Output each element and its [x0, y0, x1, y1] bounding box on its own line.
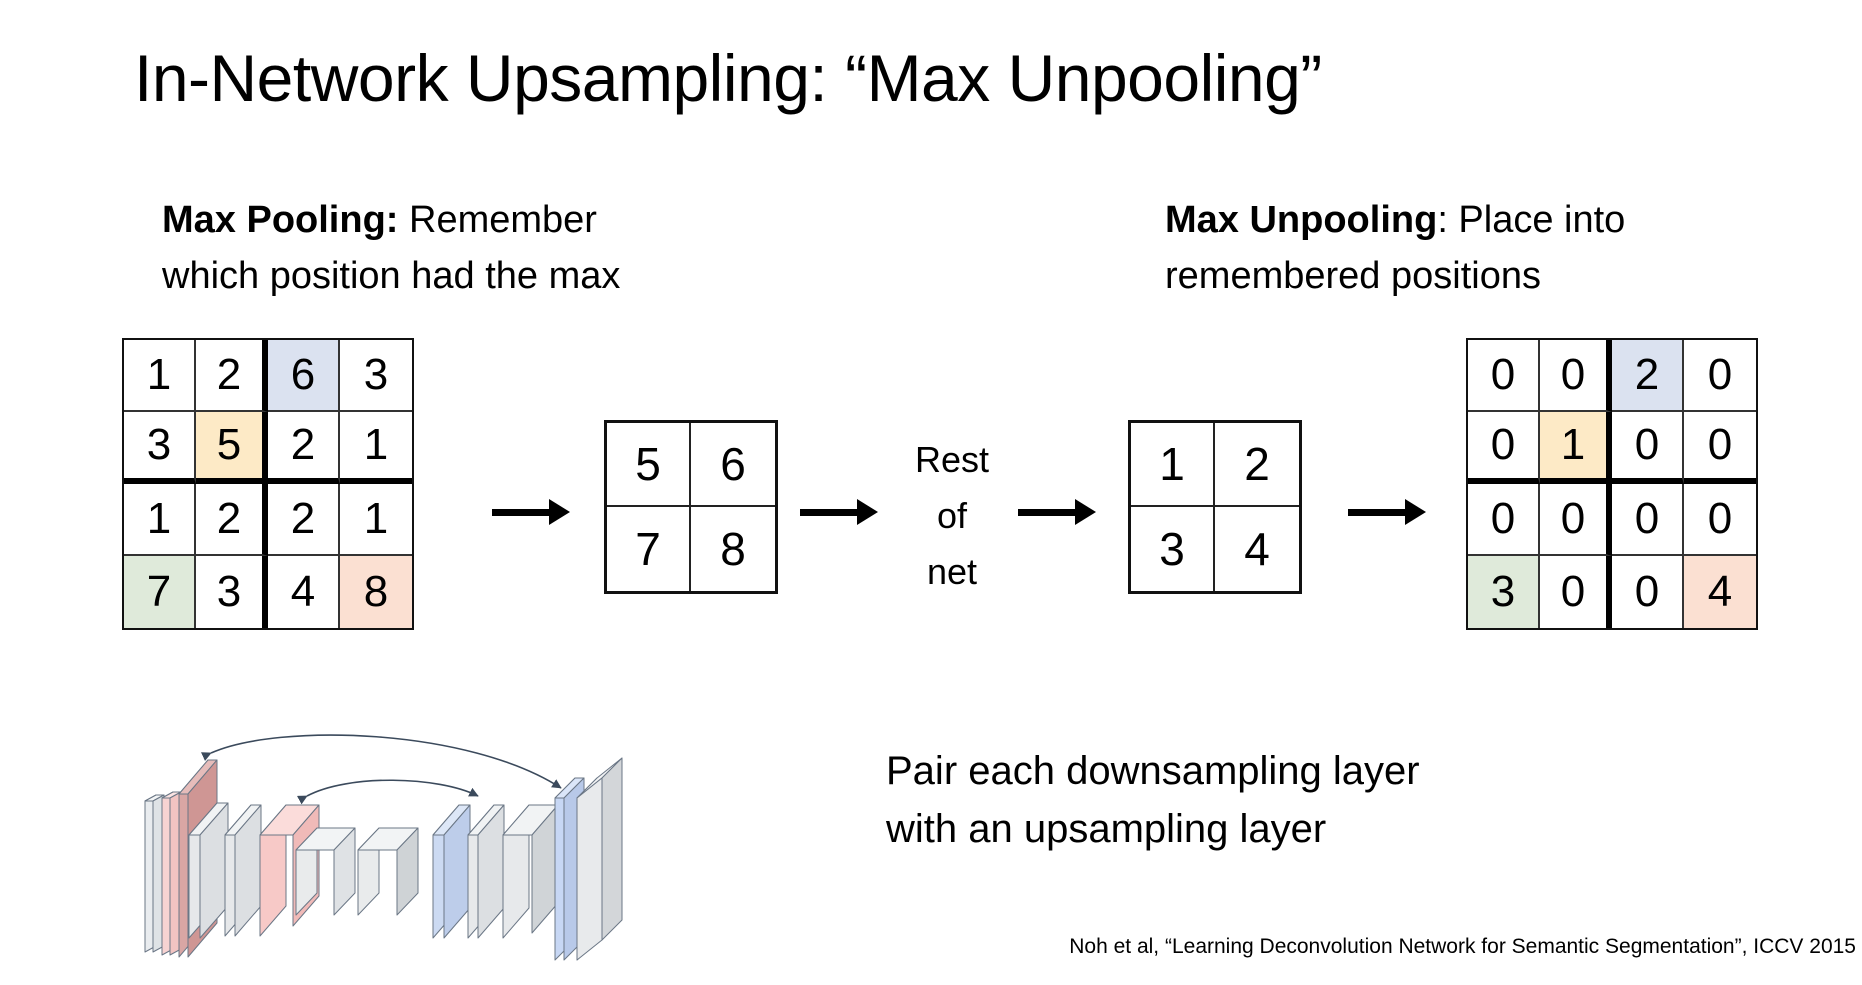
rest-of-net-line-2: of — [898, 488, 1006, 544]
rest-of-net-line-3: net — [898, 544, 1006, 600]
pooling-input-grid-cell-r1-c0: 3 — [124, 412, 196, 484]
upsample-input-grid-cell-r1-c1: 4 — [1215, 507, 1299, 591]
pooling-input-grid-cell-r2-c0: 1 — [124, 484, 196, 556]
net-block-bottleneck-1 — [296, 828, 355, 915]
upsample-input-grid-cell-r0-c1: 2 — [1215, 423, 1299, 507]
pooling-input-grid-cell-r3-c0: 7 — [124, 556, 196, 628]
unpooling-output-grid-cell-r2-c0: 0 — [1468, 484, 1540, 556]
net-block-input-1 — [145, 795, 164, 952]
arrow-head — [549, 499, 570, 525]
net-block-enc-3 — [225, 805, 261, 936]
unpooling-output-grid-cell-r3-c1: 0 — [1540, 556, 1612, 628]
unpooling-output-grid-cell-r0-c3: 0 — [1684, 340, 1756, 412]
arrow-head — [857, 499, 878, 525]
arrow-head — [1075, 499, 1096, 525]
unpooling-output-grid-cell-r3-c2: 0 — [1612, 556, 1684, 628]
unpooling-output-grid-cell-r0-c0: 0 — [1468, 340, 1540, 412]
unpooling-output-grid-cell-r3-c0: 3 — [1468, 556, 1540, 628]
pooling-input-grid-cell-r0-c1: 2 — [196, 340, 268, 412]
rest-of-net-line-1: Rest — [898, 432, 1006, 488]
pooling-input-grid-cell-r1-c2: 2 — [268, 412, 340, 484]
arrow-head — [1405, 499, 1426, 525]
citation-text: Noh et al, “Learning Deconvolution Netwo… — [1069, 934, 1856, 959]
rest-of-net-label: Rest of net — [898, 432, 1006, 599]
pooling-input-grid-cell-r3-c1: 3 — [196, 556, 268, 628]
pooling-input-grid-cell-r2-c2: 2 — [268, 484, 340, 556]
pooling-input-grid-cell-r2-c1: 2 — [196, 484, 268, 556]
pooled-grid-cell-r0-c1: 6 — [691, 423, 775, 507]
pooling-input-grid-cell-r1-c1: 5 — [196, 412, 268, 484]
net-block-dec-2 — [468, 805, 504, 938]
upsample-input-grid: 1234 — [1128, 420, 1302, 594]
net-block-dec-3 — [503, 805, 558, 938]
net-block-input-2 — [162, 792, 181, 955]
arrow-unpool-right-icon — [1348, 497, 1426, 527]
net-block-dec-1 — [433, 805, 470, 938]
skip-arrow-inner — [307, 780, 478, 796]
unpooling-output-grid-cell-r0-c1: 0 — [1540, 340, 1612, 412]
unpooling-output-grid-cell-r1-c1: 1 — [1540, 412, 1612, 484]
pooled-grid: 5678 — [604, 420, 778, 594]
pair-layers-caption: Pair each downsampling layer with an ups… — [886, 742, 1420, 858]
encoder-decoder-network-diagram — [118, 718, 638, 980]
pooling-input-grid-cell-r0-c0: 1 — [124, 340, 196, 412]
unpooling-output-grid-cell-r0-c2: 2 — [1612, 340, 1684, 412]
unpooling-output-grid: 0020010000003004 — [1466, 338, 1758, 630]
pooling-input-grid-cell-r0-c2: 6 — [268, 340, 340, 412]
arrow-to-rest-of-net-icon — [800, 497, 878, 527]
arrow-shaft — [492, 509, 550, 516]
unpooling-output-grid-cell-r2-c2: 0 — [1612, 484, 1684, 556]
arrow-shaft — [1348, 509, 1406, 516]
unpooling-output-grid-cell-r1-c0: 0 — [1468, 412, 1540, 484]
upsample-input-grid-cell-r1-c0: 3 — [1131, 507, 1215, 591]
pooling-input-grid-cell-r3-c2: 4 — [268, 556, 340, 628]
pooled-grid-cell-r1-c1: 8 — [691, 507, 775, 591]
pooling-input-grid-cell-r2-c3: 1 — [340, 484, 412, 556]
pooling-input-grid-cell-r0-c3: 3 — [340, 340, 412, 412]
net-block-bottleneck-2 — [358, 828, 418, 915]
pooling-input-grid-cell-r1-c3: 1 — [340, 412, 412, 484]
arrow-shaft — [800, 509, 858, 516]
unpooling-output-grid-cell-r1-c2: 0 — [1612, 412, 1684, 484]
arrow-from-rest-of-net-icon — [1018, 497, 1096, 527]
unpooling-output-grid-cell-r2-c1: 0 — [1540, 484, 1612, 556]
pooled-grid-cell-r0-c0: 5 — [607, 423, 691, 507]
upsample-input-grid-cell-r0-c0: 1 — [1131, 423, 1215, 507]
pooling-input-grid: 1263352112217348 — [122, 338, 414, 630]
pooled-grid-cell-r1-c0: 7 — [607, 507, 691, 591]
max-pooling-label: Max Pooling: — [162, 199, 398, 241]
pooling-input-grid-cell-r3-c3: 8 — [340, 556, 412, 628]
unpooling-output-grid-cell-r2-c3: 0 — [1684, 484, 1756, 556]
unpooling-output-grid-cell-r3-c3: 4 — [1684, 556, 1756, 628]
arrow-shaft — [1018, 509, 1076, 516]
unpooling-output-grid-cell-r1-c3: 0 — [1684, 412, 1756, 484]
page-title: In-Network Upsampling: “Max Unpooling” — [134, 42, 1322, 115]
max-pooling-heading: Max Pooling: Remember which position had… — [162, 192, 782, 304]
max-unpooling-heading: Max Unpooling: Place into remembered pos… — [1165, 192, 1805, 304]
arrow-pool-right-icon — [492, 497, 570, 527]
max-unpooling-label: Max Unpooling — [1165, 199, 1437, 241]
